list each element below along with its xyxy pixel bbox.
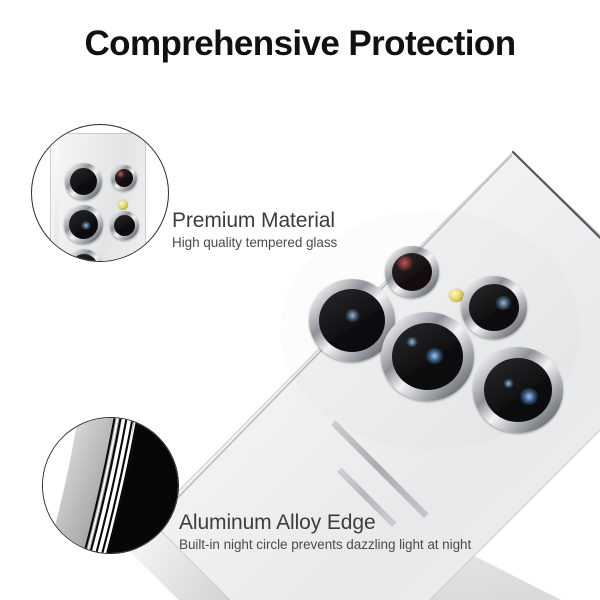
callout-text-aluminum-alloy-edge: Aluminum Alloy Edge Built-in night circl…: [179, 511, 471, 552]
callout-heading-premium-material: Premium Material: [172, 209, 337, 233]
callout-subtitle-aluminum-alloy-edge: Built-in night circle prevents dazzling …: [179, 537, 471, 552]
camera-lens-telephoto-3x: [461, 276, 527, 339]
page-title: Comprehensive Protection: [0, 24, 600, 64]
camera-lens-laser-af: [385, 246, 439, 298]
callout-circle-premium-material: [31, 124, 169, 262]
callout-text-premium-material: Premium Material High quality tempered g…: [172, 209, 337, 250]
callout-heading-aluminum-alloy-edge: Aluminum Alloy Edge: [179, 511, 471, 535]
mini-camera-lens-telephoto-3x: [110, 211, 139, 240]
aluminum-edge-macro-image: [42, 417, 179, 554]
callout-circle-aluminum-alloy-edge: [42, 417, 179, 554]
mini-camera-lens-main: [64, 205, 103, 244]
mini-camera-lens-laser-af: [111, 165, 137, 191]
volume-button: [331, 421, 429, 519]
product-feature-graphic: Comprehensive Protection: [0, 0, 600, 600]
camera-lens-main: [381, 312, 474, 401]
camera-lens-telephoto-10x: [473, 347, 563, 433]
mini-phone-back: [50, 133, 146, 262]
mini-camera-lens-wide: [65, 163, 102, 200]
callout-subtitle-premium-material: High quality tempered glass: [172, 235, 337, 250]
mini-camera-flash-led: [118, 200, 128, 210]
